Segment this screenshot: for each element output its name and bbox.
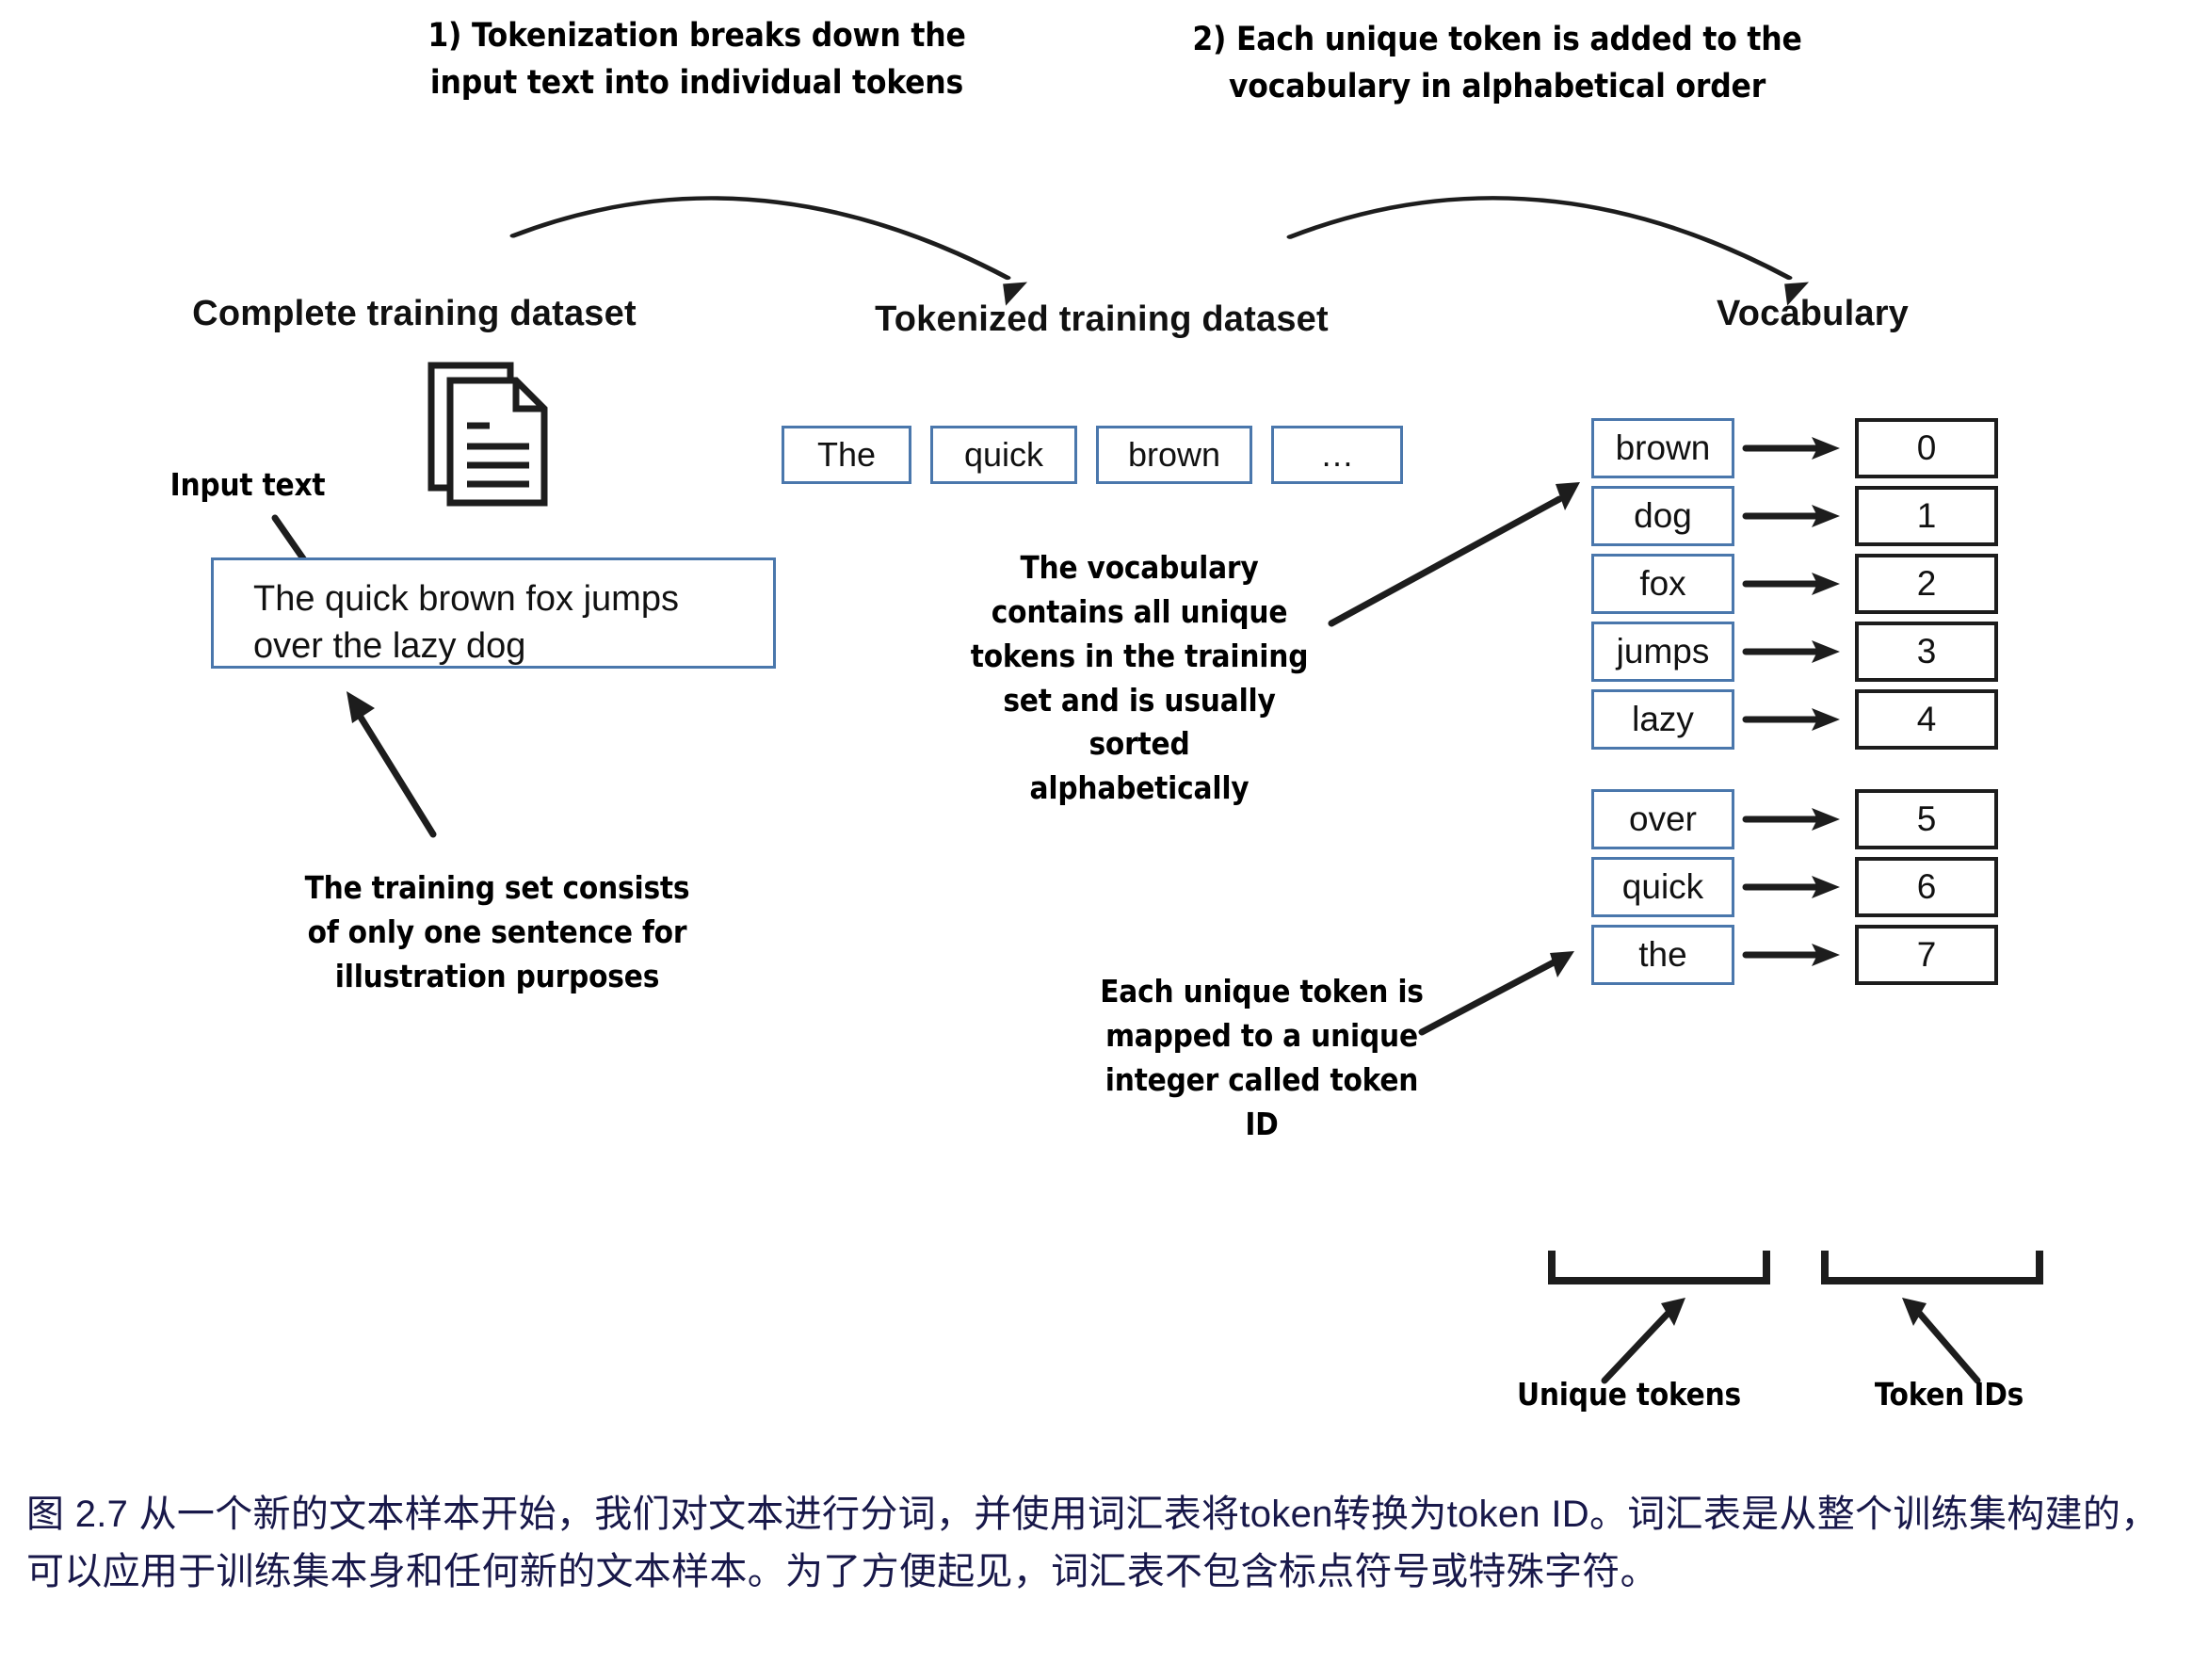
vocabulary-token-label: quick <box>1622 867 1703 907</box>
vocabulary-map-arrow <box>1734 705 1855 734</box>
vocabulary-note-line-4: set and is usually <box>913 679 1365 723</box>
tokenized-token-label: The <box>817 435 876 475</box>
vocabulary-note-line-6: alphabetically <box>913 767 1365 811</box>
input-text-line-1: The quick brown fox jumps <box>253 575 752 622</box>
input-text-label: Input text <box>139 463 356 508</box>
token-id-label: 4 <box>1917 700 1937 739</box>
figure-caption: 图 2.7 从一个新的文本样本开始，我们对文本进行分词，并使用词汇表将token… <box>26 1486 2192 1601</box>
token-id-box[interactable]: 1 <box>1855 486 1998 546</box>
vocabulary-token-box[interactable]: fox <box>1591 554 1734 614</box>
vocabulary-token-box[interactable]: brown <box>1591 418 1734 478</box>
token-id-label: 2 <box>1917 564 1937 604</box>
vocabulary-token-label: lazy <box>1632 700 1694 739</box>
vocabulary-token-box[interactable]: quick <box>1591 857 1734 917</box>
token-id-label: 5 <box>1917 800 1937 839</box>
vocabulary-row: lazy4 <box>1591 689 1998 750</box>
vocabulary-row: brown0 <box>1591 418 1998 478</box>
input-text-box[interactable]: The quick brown fox jumps over the lazy … <box>211 557 776 669</box>
column-title-tokenized: Tokenized training dataset <box>810 299 1394 340</box>
vocabulary-row: fox2 <box>1591 554 1998 614</box>
curved-arrow-vocabulary <box>1262 132 1846 301</box>
vocabulary-token-box[interactable]: the <box>1591 925 1734 985</box>
vocabulary-row: jumps3 <box>1591 622 1998 682</box>
token-id-note-arrow <box>1412 942 1601 1045</box>
vocabulary-note-line-3: tokens in the training <box>913 635 1365 679</box>
vocabulary-note-line-2: contains all unique <box>913 590 1365 635</box>
vocabulary-token-label: fox <box>1639 564 1685 604</box>
vocabulary-row: dog1 <box>1591 486 1998 546</box>
unique-tokens-label: Unique tokens <box>1469 1373 1789 1417</box>
tokenized-token-box[interactable]: The <box>782 426 911 484</box>
token-id-label: 3 <box>1917 632 1937 671</box>
vocabulary-token-box[interactable]: jumps <box>1591 622 1734 682</box>
figure-canvas: 1) Tokenization breaks down the input te… <box>0 0 2209 1680</box>
token-id-label: 1 <box>1917 496 1937 536</box>
vocabulary-token-box[interactable]: over <box>1591 789 1734 849</box>
vocabulary-note-arrow <box>1318 461 1601 631</box>
vocabulary-map-arrow <box>1734 570 1855 598</box>
vocabulary-note: The vocabulary contains all unique token… <box>913 546 1365 811</box>
vocabulary-map-arrow <box>1734 434 1855 462</box>
training-set-note-line-1: The training set consists <box>234 866 761 911</box>
token-id-box[interactable]: 3 <box>1855 622 1998 682</box>
vocabulary-token-box[interactable]: lazy <box>1591 689 1734 750</box>
token-id-label: 0 <box>1917 428 1937 468</box>
vocabulary-map-arrow <box>1734 873 1855 901</box>
token-id-box[interactable]: 0 <box>1855 418 1998 478</box>
token-id-box[interactable]: 4 <box>1855 689 1998 750</box>
vocabulary-token-label: dog <box>1634 496 1692 536</box>
vocabulary-token-label: brown <box>1616 428 1711 468</box>
token-id-box[interactable]: 2 <box>1855 554 1998 614</box>
input-text-line-2: over the lazy dog <box>253 622 752 670</box>
vocabulary-token-label: the <box>1638 935 1686 975</box>
unique-tokens-bracket <box>1544 1245 1780 1292</box>
vocabulary-token-label: over <box>1629 800 1697 839</box>
token-ids-bracket <box>1817 1245 2053 1292</box>
step-2-line-1: 2) Each unique token is added to the <box>1177 17 1817 64</box>
vocabulary-note-line-1: The vocabulary <box>913 546 1365 590</box>
training-set-note: The training set consists of only one se… <box>234 866 761 999</box>
token-id-box[interactable]: 5 <box>1855 789 1998 849</box>
token-ids-label: Token IDs <box>1817 1373 2081 1417</box>
token-id-note-line-3: integer called token <box>1073 1058 1450 1103</box>
vocabulary-token-box[interactable]: dog <box>1591 486 1734 546</box>
tokenized-token-row: Thequickbrown… <box>782 426 1403 484</box>
token-id-note-line-1: Each unique token is <box>1073 970 1450 1014</box>
token-id-box[interactable]: 7 <box>1855 925 1998 985</box>
step-1-line-1: 1) Tokenization breaks down the <box>395 13 998 60</box>
token-id-label: 6 <box>1917 867 1937 907</box>
vocabulary-map-arrow <box>1734 502 1855 530</box>
token-id-note-line-2: mapped to a unique <box>1073 1014 1450 1058</box>
vocabulary-row: over5 <box>1591 789 1998 849</box>
token-id-note-line-4: ID <box>1073 1103 1450 1147</box>
vocabulary-token-label: jumps <box>1617 632 1710 671</box>
vocabulary-map-arrow <box>1734 638 1855 666</box>
tokenized-token-box[interactable]: brown <box>1096 426 1252 484</box>
token-id-note: Each unique token is mapped to a unique … <box>1073 970 1450 1146</box>
tokenized-token-box[interactable]: quick <box>930 426 1077 484</box>
token-id-label: 7 <box>1917 935 1937 975</box>
training-set-note-line-3: illustration purposes <box>234 955 761 999</box>
tokenized-token-label: brown <box>1128 435 1220 475</box>
tokenized-token-label: quick <box>964 435 1043 475</box>
column-title-vocabulary: Vocabulary <box>1601 294 2024 334</box>
vocabulary-row: quick6 <box>1591 857 1998 917</box>
column-title-dataset: Complete training dataset <box>151 294 678 334</box>
step-1-line-2: input text into individual tokens <box>395 60 998 107</box>
step-2-label: 2) Each unique token is added to the voc… <box>1177 17 1817 110</box>
step-1-label: 1) Tokenization breaks down the input te… <box>395 13 998 106</box>
vocabulary-note-line-5: sorted <box>913 722 1365 767</box>
vocabulary-map-arrow <box>1734 805 1855 833</box>
step-2-line-2: vocabulary in alphabetical order <box>1177 64 1817 111</box>
vocabulary-row: the7 <box>1591 925 1998 985</box>
document-stack-icon <box>426 360 557 510</box>
vocabulary-map-arrow <box>1734 941 1855 969</box>
token-id-box[interactable]: 6 <box>1855 857 1998 917</box>
training-set-note-line-2: of only one sentence for <box>234 911 761 955</box>
curved-arrow-tokenization <box>471 132 1055 301</box>
training-set-note-arrow <box>331 676 463 846</box>
